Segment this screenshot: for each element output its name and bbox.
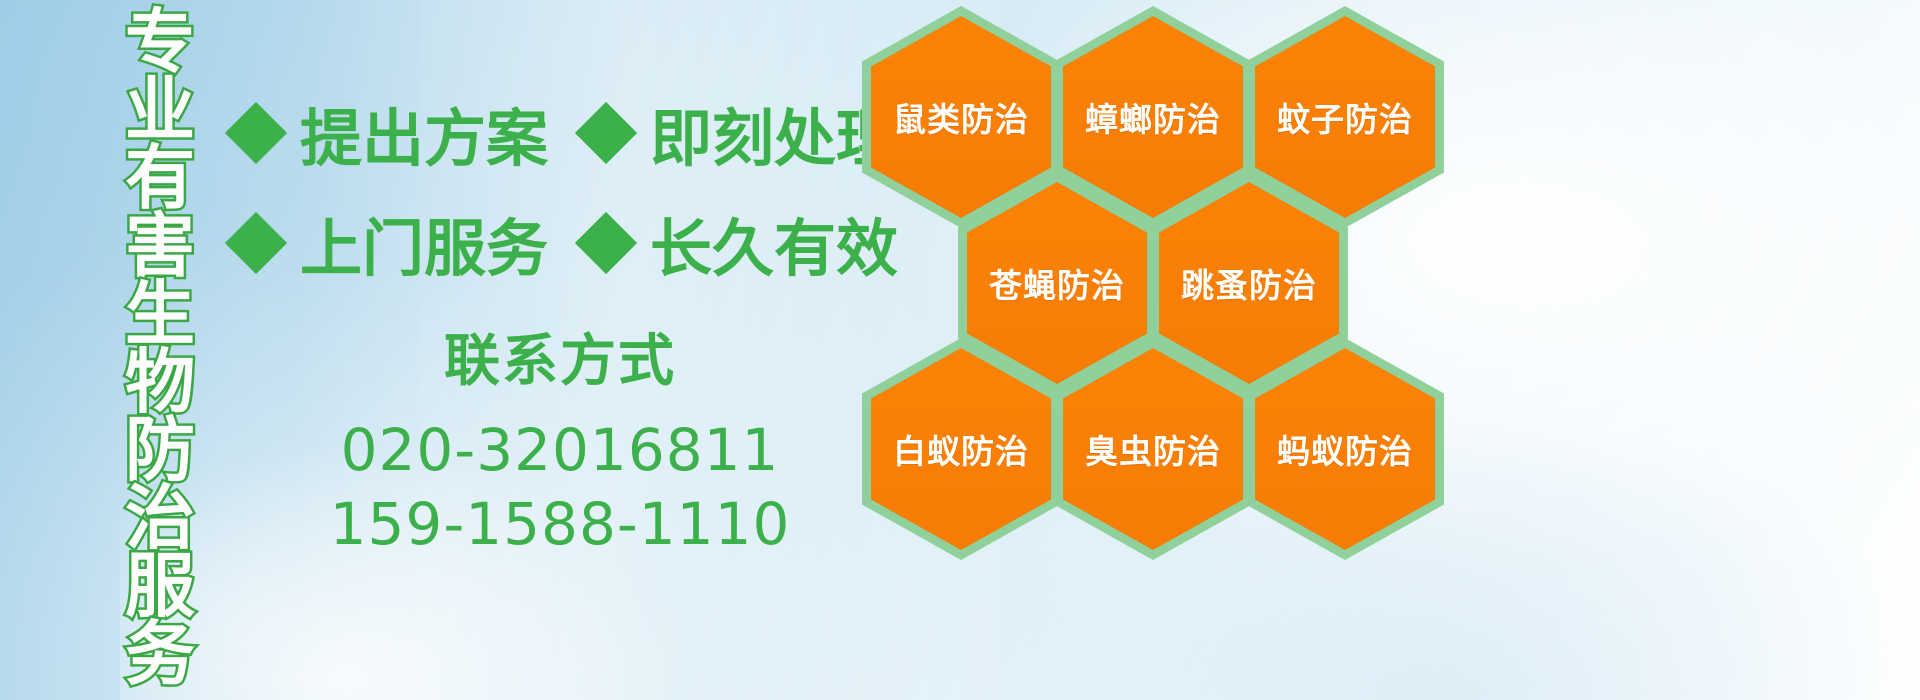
diamond-icon <box>575 102 637 164</box>
diamond-icon <box>225 212 287 274</box>
feature-item-onsite-service: 上门服务 <box>234 198 548 288</box>
service-label: 白蚁防治 <box>893 425 1029 473</box>
service-honeycomb: 鼠类防治 蟑螂防治 蚊子防治 苍蝇防治 跳蚤防治 <box>862 0 1462 560</box>
pest-control-banner: 专 业 有 害 生 物 防 治 服 务 提出方案 即刻处理 上门服务 长久有效 <box>0 0 1920 700</box>
service-label: 跳蚤防治 <box>1181 259 1317 307</box>
feature-row-1: 提出方案 即刻处理 <box>234 88 898 178</box>
phone-number-mobile[interactable]: 159-1588-1110 <box>300 487 820 561</box>
headline-char: 生 <box>125 280 195 348</box>
phone-number-landline[interactable]: 020-32016811 <box>300 413 820 487</box>
feature-label: 即刻处理 <box>650 88 898 178</box>
service-label: 鼠类防治 <box>893 93 1029 141</box>
contact-block: 联系方式 020-32016811 159-1588-1110 <box>300 316 820 561</box>
service-hex-ant[interactable]: 蚂蚁防治 <box>1246 338 1444 560</box>
feature-row-2: 上门服务 长久有效 <box>234 198 898 288</box>
headline-char: 防 <box>125 416 195 484</box>
feature-item-long-lasting: 长久有效 <box>584 198 898 288</box>
service-row-3: 白蚁防治 臭虫防治 蚂蚁防治 <box>862 338 1438 560</box>
headline-char: 害 <box>125 212 195 280</box>
feature-label: 长久有效 <box>650 198 898 288</box>
diamond-icon <box>225 102 287 164</box>
service-hex-bedbug[interactable]: 臭虫防治 <box>1054 338 1252 560</box>
diamond-icon <box>575 212 637 274</box>
service-label: 臭虫防治 <box>1085 425 1221 473</box>
headline-char: 有 <box>125 144 195 212</box>
service-label: 蚂蚁防治 <box>1277 425 1413 473</box>
contact-heading: 联系方式 <box>300 316 820 397</box>
service-hex-termite[interactable]: 白蚁防治 <box>862 338 1060 560</box>
headline-char: 治 <box>125 484 195 552</box>
service-label: 蚊子防治 <box>1277 93 1413 141</box>
service-label: 苍蝇防治 <box>989 259 1125 307</box>
vertical-headline: 专 业 有 害 生 物 防 治 服 务 <box>108 8 212 692</box>
feature-item-propose-plan: 提出方案 <box>234 88 548 178</box>
feature-label: 上门服务 <box>300 198 548 288</box>
headline-char: 业 <box>125 76 195 144</box>
service-label: 蟑螂防治 <box>1085 93 1221 141</box>
feature-label: 提出方案 <box>300 88 548 178</box>
headline-char: 专 <box>125 8 195 76</box>
headline-char: 务 <box>125 620 195 688</box>
headline-char: 服 <box>125 552 195 620</box>
feature-item-immediate-handling: 即刻处理 <box>584 88 898 178</box>
headline-char: 物 <box>125 348 195 416</box>
